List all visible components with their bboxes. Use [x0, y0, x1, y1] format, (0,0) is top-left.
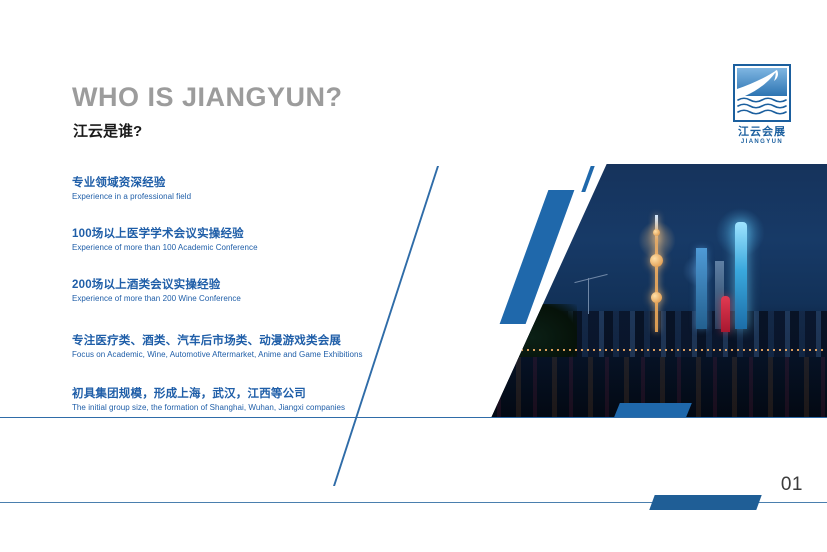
- company-logo: 江云会展 JIANGYUN: [727, 64, 797, 154]
- logo-text-chinese: 江云会展: [727, 126, 797, 138]
- boat: [549, 367, 573, 375]
- divider-line-middle: [0, 417, 827, 418]
- list-item-label-zh: 100场以上医学学术会议实操经验: [72, 227, 258, 241]
- list-item: 初具集团规模，形成上海，武汉，江西等公司 The initial group s…: [72, 387, 345, 414]
- pearl-sphere-base: [651, 292, 662, 303]
- logo-mark-icon: [733, 64, 791, 122]
- pearl-sphere-small: [653, 229, 660, 236]
- accent-sliver-shape: [581, 166, 594, 192]
- pearl-sphere-large: [650, 254, 663, 267]
- list-item-label-zh: 专注医疗类、酒类、汽车后市场类、动漫游戏类会展: [72, 334, 363, 348]
- list-item-label-zh: 专业领域资深经验: [72, 176, 191, 190]
- logo-text-english: JIANGYUN: [727, 138, 797, 146]
- promenade-lights: [515, 349, 827, 351]
- accent-parallelogram-page: [649, 495, 761, 510]
- sail-and-waves-icon: [737, 68, 787, 118]
- list-item-label-en: Experience of more than 100 Academic Con…: [72, 242, 258, 254]
- shanghai-tower: [735, 222, 747, 329]
- list-item-label-en: Focus on Academic, Wine, Automotive Afte…: [72, 349, 363, 361]
- page-title-chinese: 江云是谁?: [73, 120, 142, 141]
- boat: [522, 367, 546, 375]
- list-item-label-zh: 初具集团规模，形成上海，武汉，江西等公司: [72, 387, 345, 401]
- diagonal-line: [333, 166, 439, 486]
- accent-bar-bottom: [614, 403, 692, 417]
- crane-icon: [574, 274, 607, 283]
- list-item-label-en: Experience of more than 200 Wine Confere…: [72, 293, 241, 305]
- crane-mast-icon: [588, 278, 589, 314]
- list-item: 100场以上医学学术会议实操经验 Experience of more than…: [72, 227, 258, 254]
- list-item-label-en: The initial group size, the formation of…: [72, 402, 345, 414]
- list-item: 200场以上酒类会议实操经验 Experience of more than 2…: [72, 278, 241, 305]
- page-number: 01: [781, 474, 803, 496]
- list-item-label-en: Experience in a professional field: [72, 191, 191, 203]
- world-financial-center-tower: [696, 248, 707, 329]
- slide-canvas: WHO IS JIANGYUN? 江云是谁? 专业领域资深经验 Experien…: [0, 0, 827, 552]
- red-sculpture: [721, 296, 730, 332]
- list-item: 专业领域资深经验 Experience in a professional fi…: [72, 176, 191, 203]
- list-item: 专注医疗类、酒类、汽车后市场类、动漫游戏类会展 Focus on Academi…: [72, 334, 363, 361]
- list-item-label-zh: 200场以上酒类会议实操经验: [72, 278, 241, 292]
- page-title-english: WHO IS JIANGYUN?: [72, 82, 343, 113]
